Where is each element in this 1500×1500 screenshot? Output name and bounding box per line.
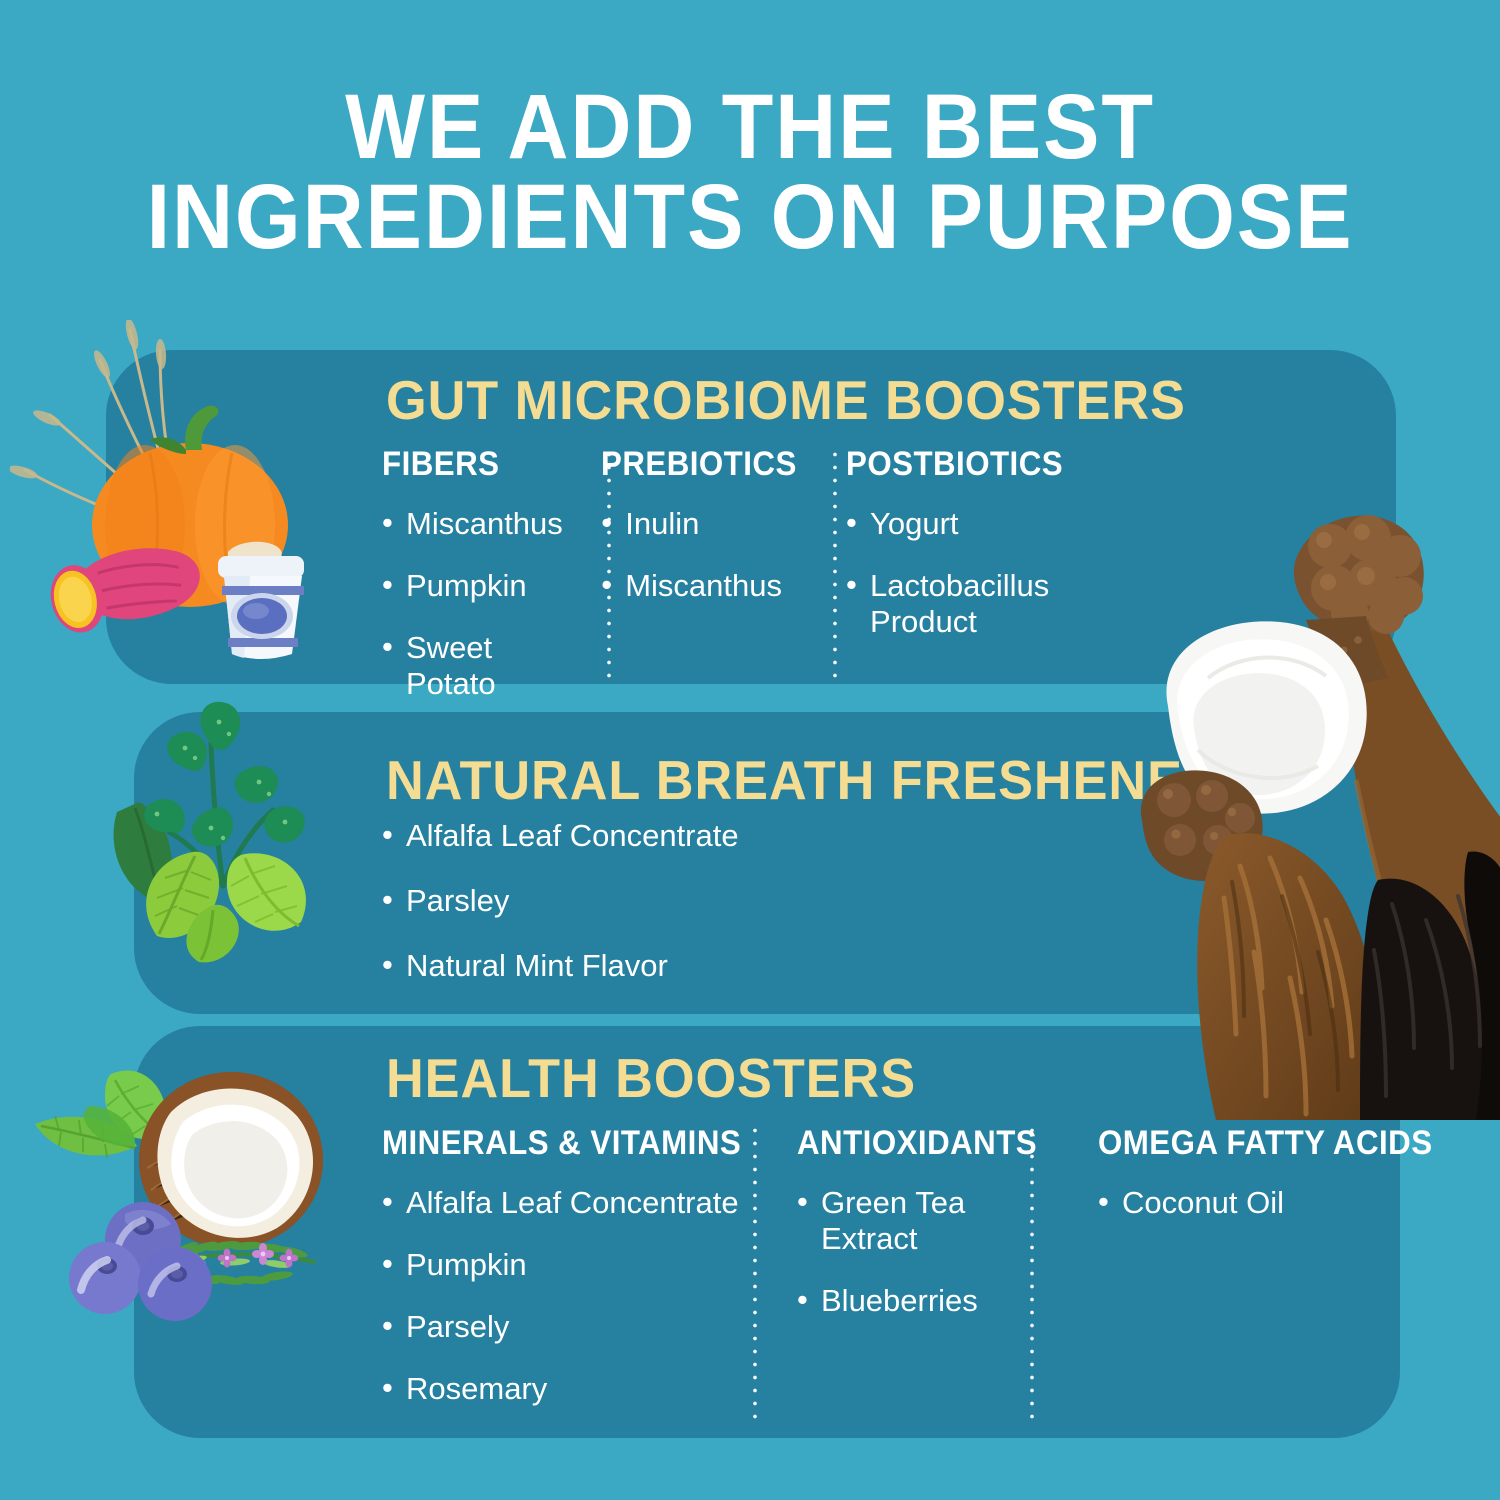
list-item: Alfalfa Leaf Concentrate xyxy=(382,1185,757,1221)
card-1-columns: FIBERS Miscanthus Pumpkin Sweet Potato P… xyxy=(382,445,1082,728)
card-1-divider-1 xyxy=(607,448,611,684)
card-1-heading: GUT MICROBIOME BOOSTERS xyxy=(386,368,1186,432)
column-head-omega-fatty-acids: OMEGA FATTY ACIDS xyxy=(1098,1124,1402,1163)
card-3-heading: HEALTH BOOSTERS xyxy=(386,1046,916,1110)
list-item: Blueberries xyxy=(797,1283,1058,1319)
card-1-column-postbiotics: POSTBIOTICS Yogurt Lactobacillus Product xyxy=(814,445,1082,728)
list-item: Pumpkin xyxy=(382,568,569,604)
page-title: WE ADD THE BEST INGREDIENTS ON PURPOSE xyxy=(60,82,1440,262)
card-3-column-omega-fatty-acids: OMEGA FATTY ACIDS Coconut Oil xyxy=(1058,1124,1428,1433)
card-1-column-fibers: FIBERS Miscanthus Pumpkin Sweet Potato xyxy=(382,445,569,728)
list-item: Miscanthus xyxy=(382,506,569,542)
column-head-antioxidants: ANTIOXIDANTS xyxy=(797,1124,1037,1163)
column-head-postbiotics: POSTBIOTICS xyxy=(846,445,1063,484)
list-minerals-vitamins: Alfalfa Leaf Concentrate Pumpkin Parsely… xyxy=(382,1185,757,1407)
card-3-divider-2 xyxy=(1030,1124,1034,1424)
list-antioxidants: Green Tea Extract Blueberries xyxy=(797,1185,1058,1319)
list-postbiotics: Yogurt Lactobacillus Product xyxy=(846,506,1082,640)
list-fibers: Miscanthus Pumpkin Sweet Potato xyxy=(382,506,569,702)
card-3-column-minerals-vitamins: MINERALS & VITAMINS Alfalfa Leaf Concent… xyxy=(382,1124,757,1433)
list-item: Lactobacillus Product xyxy=(846,568,1082,640)
list-item: Sweet Potato xyxy=(382,630,569,702)
list-item: Natural Mint Flavor xyxy=(382,948,1142,984)
list-omega-fatty-acids: Coconut Oil xyxy=(1098,1185,1428,1221)
list-item: Coconut Oil xyxy=(1098,1185,1428,1221)
list-prebiotics: Inulin Miscanthus xyxy=(601,506,814,604)
list-item: Miscanthus xyxy=(601,568,814,604)
page-title-line-2: INGREDIENTS ON PURPOSE xyxy=(60,172,1440,262)
card-3-columns: MINERALS & VITAMINS Alfalfa Leaf Concent… xyxy=(382,1124,1372,1433)
card-1-divider-2 xyxy=(833,448,837,684)
list-item: Rosemary xyxy=(382,1371,757,1407)
card-3-divider-1 xyxy=(753,1124,757,1424)
list-breath-fresheners: Alfalfa Leaf Concentrate Parsley Natural… xyxy=(382,818,1142,1013)
card-1-column-prebiotics: PREBIOTICS Inulin Miscanthus xyxy=(569,445,814,728)
list-item: Yogurt xyxy=(846,506,1082,542)
list-item: Parsley xyxy=(382,883,1142,919)
column-head-prebiotics: PREBIOTICS xyxy=(601,445,797,484)
card-3-column-antioxidants: ANTIOXIDANTS Green Tea Extract Blueberri… xyxy=(757,1124,1058,1433)
list-item: Inulin xyxy=(601,506,814,542)
column-head-minerals-vitamins: MINERALS & VITAMINS xyxy=(382,1124,727,1163)
list-item: Green Tea Extract xyxy=(797,1185,1058,1257)
column-head-fibers: FIBERS xyxy=(382,445,554,484)
card-2-heading: NATURAL BREATH FRESHENERS xyxy=(386,748,1257,812)
list-item: Pumpkin xyxy=(382,1247,757,1283)
list-item: Parsely xyxy=(382,1309,757,1345)
page-title-line-1: WE ADD THE BEST xyxy=(60,82,1440,172)
list-item: Alfalfa Leaf Concentrate xyxy=(382,818,1142,854)
infographic-canvas: WE ADD THE BEST INGREDIENTS ON PURPOSE G… xyxy=(0,0,1500,1500)
